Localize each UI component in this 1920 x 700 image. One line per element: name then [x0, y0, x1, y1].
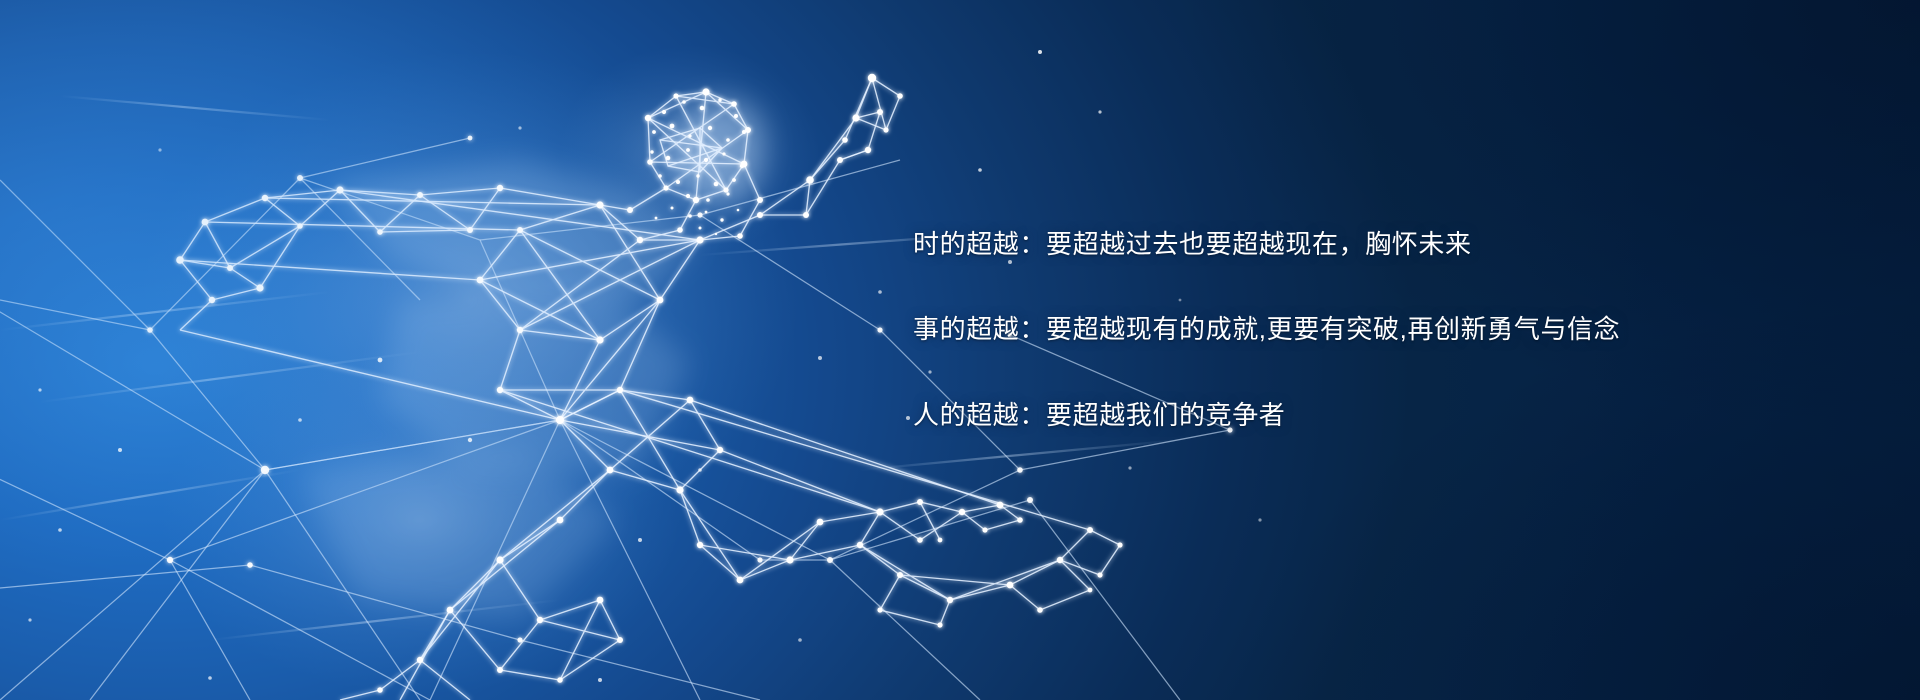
slogan-block: 时的超越：要超越过去也要超越现在，胸怀未来 事的超越：要超越现有的成就,更要有突… [913, 228, 1813, 432]
slogan-line-people: 人的超越：要超越我们的竞争者 [913, 399, 1813, 432]
hero-banner: 时的超越：要超越过去也要超越现在，胸怀未来 事的超越：要超越现有的成就,更要有突… [0, 0, 1920, 700]
slogan-line-time: 时的超越：要超越过去也要超越现在，胸怀未来 [913, 228, 1813, 261]
slogan-line-achievement: 事的超越：要超越现有的成就,更要有突破,再创新勇气与信念 [913, 313, 1813, 346]
